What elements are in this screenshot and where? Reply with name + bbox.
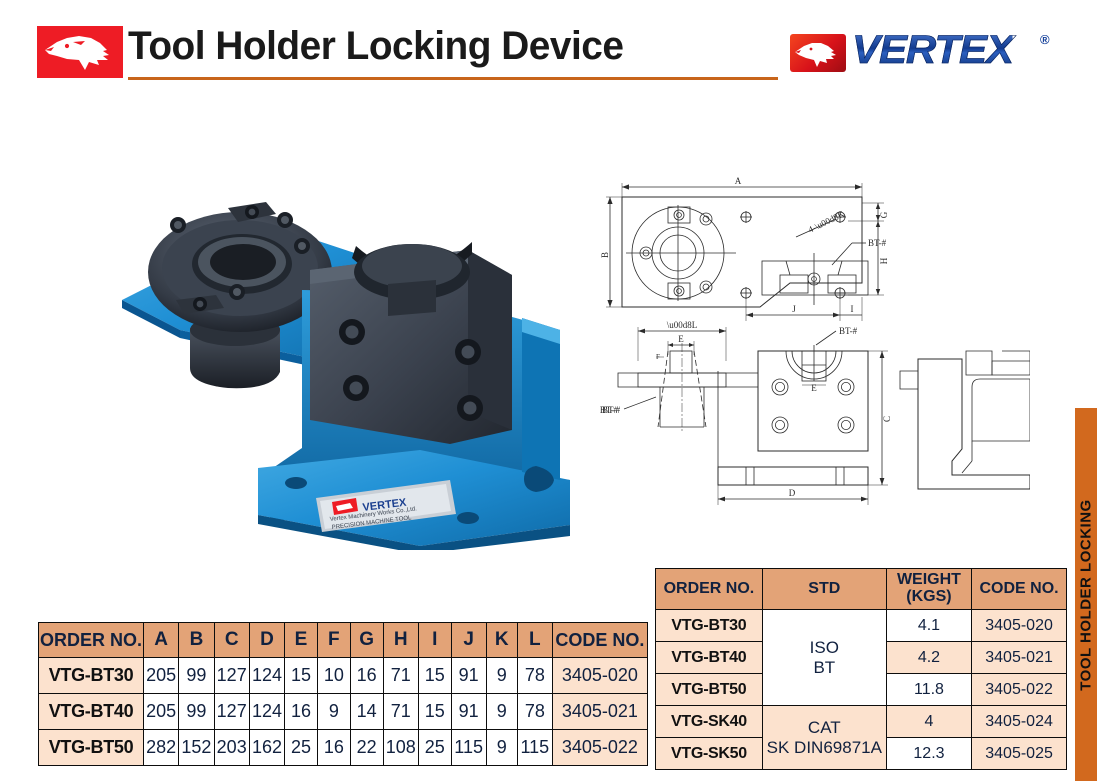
cell-code: 3405-024 bbox=[972, 706, 1067, 738]
cell-l: 78 bbox=[517, 658, 552, 694]
cell-f: 9 bbox=[317, 694, 350, 730]
cell-code: 3405-022 bbox=[972, 674, 1067, 706]
table-row: VTG-SK40 CAT SK DIN69871A 4 3405-024 bbox=[656, 706, 1067, 738]
section-tab[interactable]: TOOL HOLDER LOCKING bbox=[1075, 408, 1097, 781]
cell-order: VTG-BT40 bbox=[656, 642, 763, 674]
cell-l: 115 bbox=[517, 730, 552, 766]
cell-std: CAT SK DIN69871A bbox=[762, 706, 886, 770]
col-a: A bbox=[144, 623, 179, 658]
cell-order: VTG-BT40 bbox=[39, 694, 144, 730]
vertex-wordmark: VERTEX bbox=[852, 28, 1013, 73]
col-b: B bbox=[179, 623, 214, 658]
cell-c: 127 bbox=[214, 658, 249, 694]
svg-text:BT-#: BT-# bbox=[602, 405, 621, 415]
table-header-row: ORDER NO. STD WEIGHT (KGS) CODE NO. bbox=[656, 569, 1067, 610]
cell-order: VTG-BT50 bbox=[656, 674, 763, 706]
col-weight: WEIGHT (KGS) bbox=[886, 569, 971, 610]
std-line2: BT bbox=[764, 658, 885, 678]
cell-code: 3405-025 bbox=[972, 738, 1067, 770]
svg-text:\u00d8L: \u00d8L bbox=[667, 320, 698, 330]
cell-k: 9 bbox=[486, 658, 517, 694]
title-underline bbox=[128, 77, 778, 80]
col-code-no: CODE NO. bbox=[972, 569, 1067, 610]
cell-c: 127 bbox=[214, 694, 249, 730]
table-header-row: ORDER NO. A B C D E F G H I J K L CODE N… bbox=[39, 623, 648, 658]
cell-j: 91 bbox=[451, 694, 486, 730]
col-code-no: CODE NO. bbox=[552, 623, 647, 658]
col-e: E bbox=[285, 623, 318, 658]
cell-j: 115 bbox=[451, 730, 486, 766]
cell-e: 25 bbox=[285, 730, 318, 766]
cell-weight: 4.2 bbox=[886, 642, 971, 674]
cell-order: VTG-SK50 bbox=[656, 738, 763, 770]
cell-g: 16 bbox=[350, 658, 383, 694]
svg-text:G: G bbox=[879, 211, 889, 218]
col-g: G bbox=[350, 623, 383, 658]
cell-order: VTG-SK40 bbox=[656, 706, 763, 738]
cell-code: 3405-022 bbox=[552, 730, 647, 766]
table-row: VTG-BT40 205 99 127 124 16 9 14 71 15 91… bbox=[39, 694, 648, 730]
cell-order: VTG-BT30 bbox=[656, 610, 763, 642]
col-f: F bbox=[317, 623, 350, 658]
weight-header-line2: (KGS) bbox=[888, 589, 970, 606]
cell-order: VTG-BT30 bbox=[39, 658, 144, 694]
cell-b: 99 bbox=[179, 694, 214, 730]
cell-j: 91 bbox=[451, 658, 486, 694]
std-line1: ISO bbox=[764, 638, 885, 658]
cell-code: 3405-020 bbox=[552, 658, 647, 694]
col-c: C bbox=[214, 623, 249, 658]
col-h: H bbox=[383, 623, 418, 658]
dimension-drawing: A B 4-\u00d8K BT-# G H J I bbox=[600, 165, 1030, 520]
svg-text:BT-#: BT-# bbox=[868, 238, 887, 248]
cell-a: 205 bbox=[144, 694, 179, 730]
product-photo: VERTEX Vertex Machinery Works Co.,Ltd. P… bbox=[120, 180, 570, 550]
col-k: K bbox=[486, 623, 517, 658]
vertex-eagle-icon bbox=[790, 34, 846, 72]
cell-a: 282 bbox=[144, 730, 179, 766]
cell-e: 16 bbox=[285, 694, 318, 730]
svg-text:J: J bbox=[792, 304, 796, 314]
cell-f: 10 bbox=[317, 658, 350, 694]
cell-g: 22 bbox=[350, 730, 383, 766]
cell-h: 108 bbox=[383, 730, 418, 766]
std-line2: SK DIN69871A bbox=[764, 738, 885, 758]
cell-l: 78 bbox=[517, 694, 552, 730]
table-row: VTG-BT30 ISO BT 4.1 3405-020 bbox=[656, 610, 1067, 642]
cell-code: 3405-021 bbox=[552, 694, 647, 730]
standard-weight-table: ORDER NO. STD WEIGHT (KGS) CODE NO. VTG-… bbox=[655, 568, 1067, 770]
col-i: I bbox=[418, 623, 451, 658]
vertex-logo: VERTEX ® bbox=[790, 30, 1062, 78]
col-std: STD bbox=[762, 569, 886, 610]
col-order-no: ORDER NO. bbox=[656, 569, 763, 610]
cell-f: 16 bbox=[317, 730, 350, 766]
svg-text:E: E bbox=[678, 334, 684, 344]
cell-i: 15 bbox=[418, 658, 451, 694]
cell-g: 14 bbox=[350, 694, 383, 730]
col-d: D bbox=[249, 623, 284, 658]
svg-text:E: E bbox=[811, 383, 817, 393]
std-line1: CAT bbox=[764, 718, 885, 738]
table-row: VTG-BT30 205 99 127 124 15 10 16 71 15 9… bbox=[39, 658, 648, 694]
col-l: L bbox=[517, 623, 552, 658]
col-order-no: ORDER NO. bbox=[39, 623, 144, 658]
cell-code: 3405-020 bbox=[972, 610, 1067, 642]
svg-text:A: A bbox=[735, 176, 742, 186]
col-j: J bbox=[451, 623, 486, 658]
cell-b: 99 bbox=[179, 658, 214, 694]
svg-text:I: I bbox=[851, 304, 854, 314]
cell-weight: 4 bbox=[886, 706, 971, 738]
page-title: Tool Holder Locking Device bbox=[128, 24, 623, 69]
cell-h: 71 bbox=[383, 694, 418, 730]
table-row: VTG-BT50 282 152 203 162 25 16 22 108 25… bbox=[39, 730, 648, 766]
cell-d: 162 bbox=[249, 730, 284, 766]
cell-a: 205 bbox=[144, 658, 179, 694]
cell-c: 203 bbox=[214, 730, 249, 766]
weight-header-line1: WEIGHT bbox=[888, 572, 970, 589]
cell-d: 124 bbox=[249, 694, 284, 730]
cell-order: VTG-BT50 bbox=[39, 730, 144, 766]
cell-weight: 12.3 bbox=[886, 738, 971, 770]
cell-h: 71 bbox=[383, 658, 418, 694]
svg-text:BT-#: BT-# bbox=[839, 326, 858, 336]
svg-text:C: C bbox=[882, 416, 892, 422]
page-header: Tool Holder Locking Device VERTEX ® bbox=[0, 0, 1097, 90]
cell-std: ISO BT bbox=[762, 610, 886, 706]
cell-i: 15 bbox=[418, 694, 451, 730]
dimension-table: ORDER NO. A B C D E F G H I J K L CODE N… bbox=[38, 622, 648, 766]
svg-text:D: D bbox=[789, 488, 796, 498]
cell-k: 9 bbox=[486, 694, 517, 730]
cell-b: 152 bbox=[179, 730, 214, 766]
svg-text:H: H bbox=[879, 257, 889, 264]
cell-code: 3405-021 bbox=[972, 642, 1067, 674]
cell-i: 25 bbox=[418, 730, 451, 766]
cell-k: 9 bbox=[486, 730, 517, 766]
cell-weight: 11.8 bbox=[886, 674, 971, 706]
cell-d: 124 bbox=[249, 658, 284, 694]
eagle-head-icon bbox=[37, 26, 123, 78]
cell-weight: 4.1 bbox=[886, 610, 971, 642]
svg-text:B: B bbox=[600, 252, 610, 258]
cell-e: 15 bbox=[285, 658, 318, 694]
section-tab-label: TOOL HOLDER LOCKING bbox=[1076, 409, 1097, 782]
registered-mark: ® bbox=[1040, 32, 1050, 47]
